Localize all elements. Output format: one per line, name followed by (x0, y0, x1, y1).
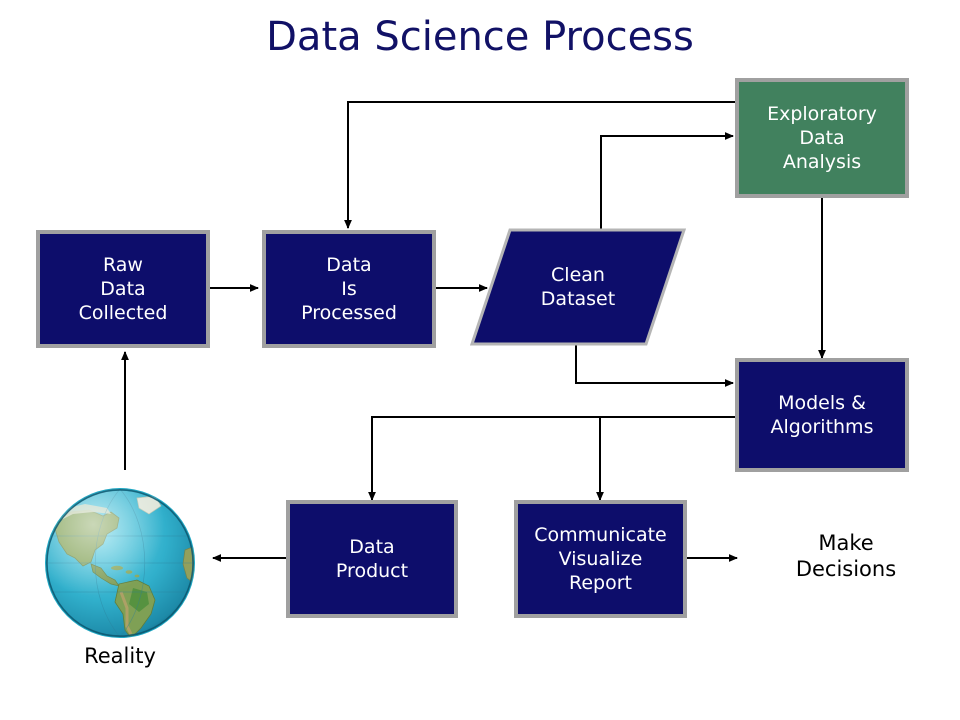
edge-clean-dataset-to-eda (601, 136, 733, 230)
node-exploratory-data-analysis[interactable]: Exploratory Data Analysis (735, 78, 909, 198)
edge-models-algorithms-to-data-product (372, 417, 735, 500)
diagram-canvas: Data Science Process (0, 0, 960, 720)
globe-graphic (45, 488, 195, 638)
node-data-product[interactable]: Data Product (286, 500, 458, 618)
label-make-decisions: Make Decisions (748, 531, 944, 582)
node-label: Communicate Visualize Report (534, 523, 667, 596)
edge-eda-to-data-is-processed (348, 102, 735, 228)
edge-models-algorithms-to-communicate (600, 417, 735, 500)
node-label: Exploratory Data Analysis (767, 102, 877, 175)
node-clean-dataset[interactable]: Clean Dataset (470, 228, 686, 346)
node-label: Raw Data Collected (79, 253, 168, 326)
earth-globe-image (45, 488, 195, 638)
node-data-is-processed[interactable]: Data Is Processed (262, 230, 436, 348)
node-models-and-algorithms[interactable]: Models & Algorithms (735, 358, 909, 472)
node-communicate-visualize-report[interactable]: Communicate Visualize Report (514, 500, 687, 618)
node-label: Data Product (336, 535, 408, 584)
label-reality: Reality (45, 644, 195, 670)
node-label: Data Is Processed (301, 253, 397, 326)
node-raw-data-collected[interactable]: Raw Data Collected (36, 230, 210, 348)
page-title: Data Science Process (0, 14, 960, 60)
edge-clean-dataset-to-models-algorithms (576, 344, 733, 383)
node-label: Models & Algorithms (771, 391, 874, 440)
node-label: Clean Dataset (470, 228, 686, 346)
